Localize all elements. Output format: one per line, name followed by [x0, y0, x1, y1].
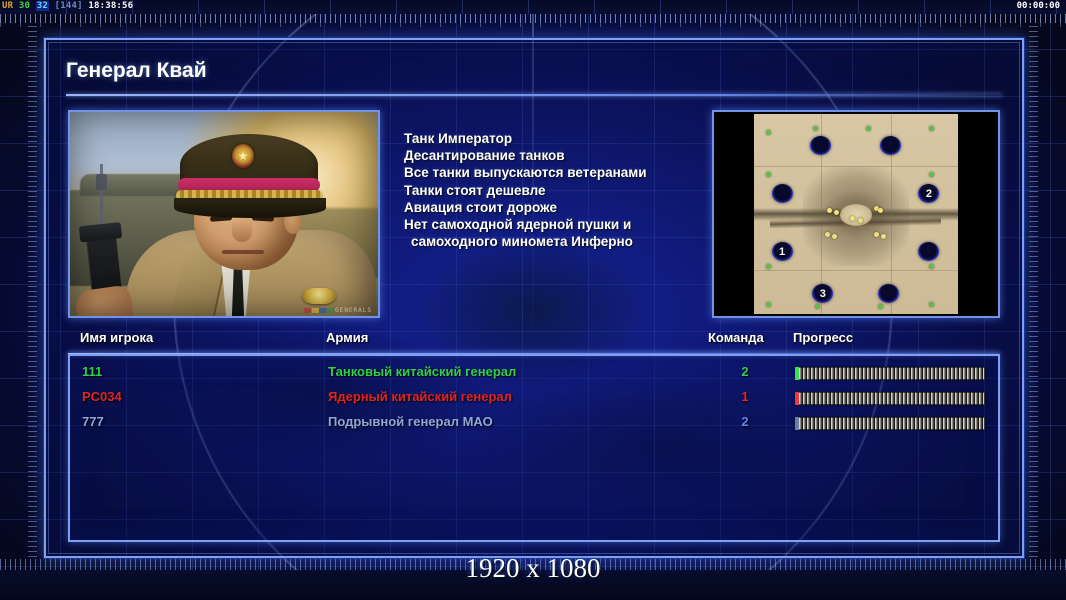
description-line: самоходного миномета Инферно: [404, 233, 724, 250]
progress-lead-marker: [795, 417, 799, 430]
description-line: Танки стоят дешевле: [404, 182, 724, 199]
minimap-supply-dot-icon: [766, 130, 771, 135]
strip-cell-divider: [528, 0, 529, 14]
portrait-mouth: [222, 250, 264, 254]
strip-cell-divider: [396, 0, 397, 14]
minimap-supply-dot-icon: [878, 304, 883, 309]
portrait-cap-star-icon: [232, 144, 254, 168]
minimap-spawn-point[interactable]: [918, 242, 939, 261]
titlebar: Генерал Квай: [66, 52, 1002, 90]
debug-clock: 18:38:56: [88, 1, 133, 11]
progress-lead-marker: [795, 392, 799, 405]
title-divider: [66, 94, 1002, 96]
info-row: GENERALS Танк ИмператорДесантирование та…: [68, 110, 1000, 318]
player-table: 111Танковый китайский генерал2PC034Ядерн…: [68, 354, 1000, 542]
debug-value-3: [144]: [55, 1, 83, 11]
debug-value-2: 32: [36, 1, 49, 11]
general-description: Танк ИмператорДесантирование танковВсе т…: [404, 130, 724, 250]
strip-cell-divider: [462, 0, 463, 14]
page-title: Генерал Квай: [66, 52, 1002, 90]
minimap-supply-dot-icon: [766, 264, 771, 269]
minimap-tech-dot-icon: [881, 234, 886, 239]
description-line: Десантирование танков: [404, 147, 724, 164]
debug-prefix: UR: [2, 1, 13, 11]
player-progress-bar: [795, 367, 985, 380]
portrait-nose: [232, 220, 252, 242]
portrait-cap-peak: [174, 198, 326, 218]
loading-screen: UR 30 32 [144] 18:38:56 00:00:00 Генерал…: [0, 0, 1066, 600]
minimap-supply-dot-icon: [766, 172, 771, 177]
player-name: 111: [82, 364, 102, 379]
strip-cell-divider: [858, 0, 859, 14]
resolution-caption: 1920 x 1080: [0, 553, 1066, 584]
minimap-seam: [754, 270, 958, 271]
minimap-supply-dot-icon: [929, 126, 934, 131]
minimap-spawn-point[interactable]: 3: [812, 284, 833, 303]
minimap-supply-dot-icon: [929, 302, 934, 307]
top-strip: [0, 0, 1066, 14]
strip-cell-divider: [330, 0, 331, 14]
column-header-progress: Прогресс: [793, 330, 853, 345]
table-row: PC034Ядерный китайский генерал1: [70, 389, 998, 410]
debug-value-1: 30: [19, 1, 30, 11]
minimap-spawn-point[interactable]: 2: [918, 184, 939, 203]
column-header-team: Команда: [708, 330, 764, 345]
description-line: Все танки выпускаются ветеранами: [404, 164, 724, 181]
debug-overlay: UR 30 32 [144] 18:38:56: [2, 1, 133, 11]
minimap-terrain: 213: [754, 114, 958, 314]
minimap-spawn-point[interactable]: [880, 136, 901, 155]
minimap-supply-dot-icon: [929, 172, 934, 177]
player-progress-bar: [795, 417, 985, 430]
minimap-tech-dot-icon: [832, 234, 837, 239]
description-line: Нет самоходной ядерной пушки и: [404, 216, 724, 233]
description-line: Авиация стоит дороже: [404, 199, 724, 216]
strip-cell-divider: [924, 0, 925, 14]
minimap-spawn-point[interactable]: [878, 284, 899, 303]
match-timer: 00:00:00: [1017, 1, 1060, 11]
player-army: Танковый китайский генерал: [328, 364, 516, 379]
column-header-player: Имя игрока: [80, 330, 153, 345]
progress-lead-marker: [795, 367, 799, 380]
main-panel: Генерал Квай: [44, 38, 1024, 558]
minimap-spawn-point[interactable]: [810, 136, 831, 155]
strip-cell-divider: [594, 0, 595, 14]
strip-cell-divider: [990, 0, 991, 14]
minimap-spawn-point[interactable]: 1: [772, 242, 793, 261]
portrait-ribbon-bar-icon: [304, 308, 334, 313]
minimap-center-island: [840, 204, 873, 226]
player-army: Подрывной генерал МАО: [328, 414, 493, 429]
minimap-supply-dot-icon: [866, 126, 871, 131]
strip-cell-divider: [264, 0, 265, 14]
strip-cell-divider: [198, 0, 199, 14]
player-progress-bar: [795, 392, 985, 405]
table-row: 777Подрывной генерал МАО2: [70, 414, 998, 435]
minimap-preview[interactable]: 213: [712, 110, 1000, 318]
player-name: PC034: [82, 389, 122, 404]
player-team: 1: [733, 389, 757, 404]
portrait-caption: GENERALS: [335, 307, 372, 314]
strip-cell-divider: [792, 0, 793, 14]
portrait-wings-badge-icon: [302, 288, 336, 304]
player-table-header: Имя игрока Армия Команда Прогресс: [68, 330, 1000, 352]
minimap-supply-dot-icon: [813, 126, 818, 131]
column-header-army: Армия: [326, 330, 368, 345]
table-row: 111Танковый китайский генерал2: [70, 364, 998, 385]
description-line: Танк Император: [404, 130, 724, 147]
minimap-supply-dot-icon: [766, 302, 771, 307]
minimap-tech-dot-icon: [850, 216, 855, 221]
player-army: Ядерный китайский генерал: [328, 389, 512, 404]
minimap-supply-dot-icon: [815, 304, 820, 309]
player-team: 2: [733, 364, 757, 379]
player-name: 777: [82, 414, 104, 429]
strip-cell-divider: [726, 0, 727, 14]
general-portrait: GENERALS: [68, 110, 380, 318]
minimap-tech-dot-icon: [834, 210, 839, 215]
minimap-seam: [754, 166, 958, 167]
player-team: 2: [733, 414, 757, 429]
strip-cell-divider: [660, 0, 661, 14]
minimap-supply-dot-icon: [929, 264, 934, 269]
minimap-spawn-point[interactable]: [772, 184, 793, 203]
